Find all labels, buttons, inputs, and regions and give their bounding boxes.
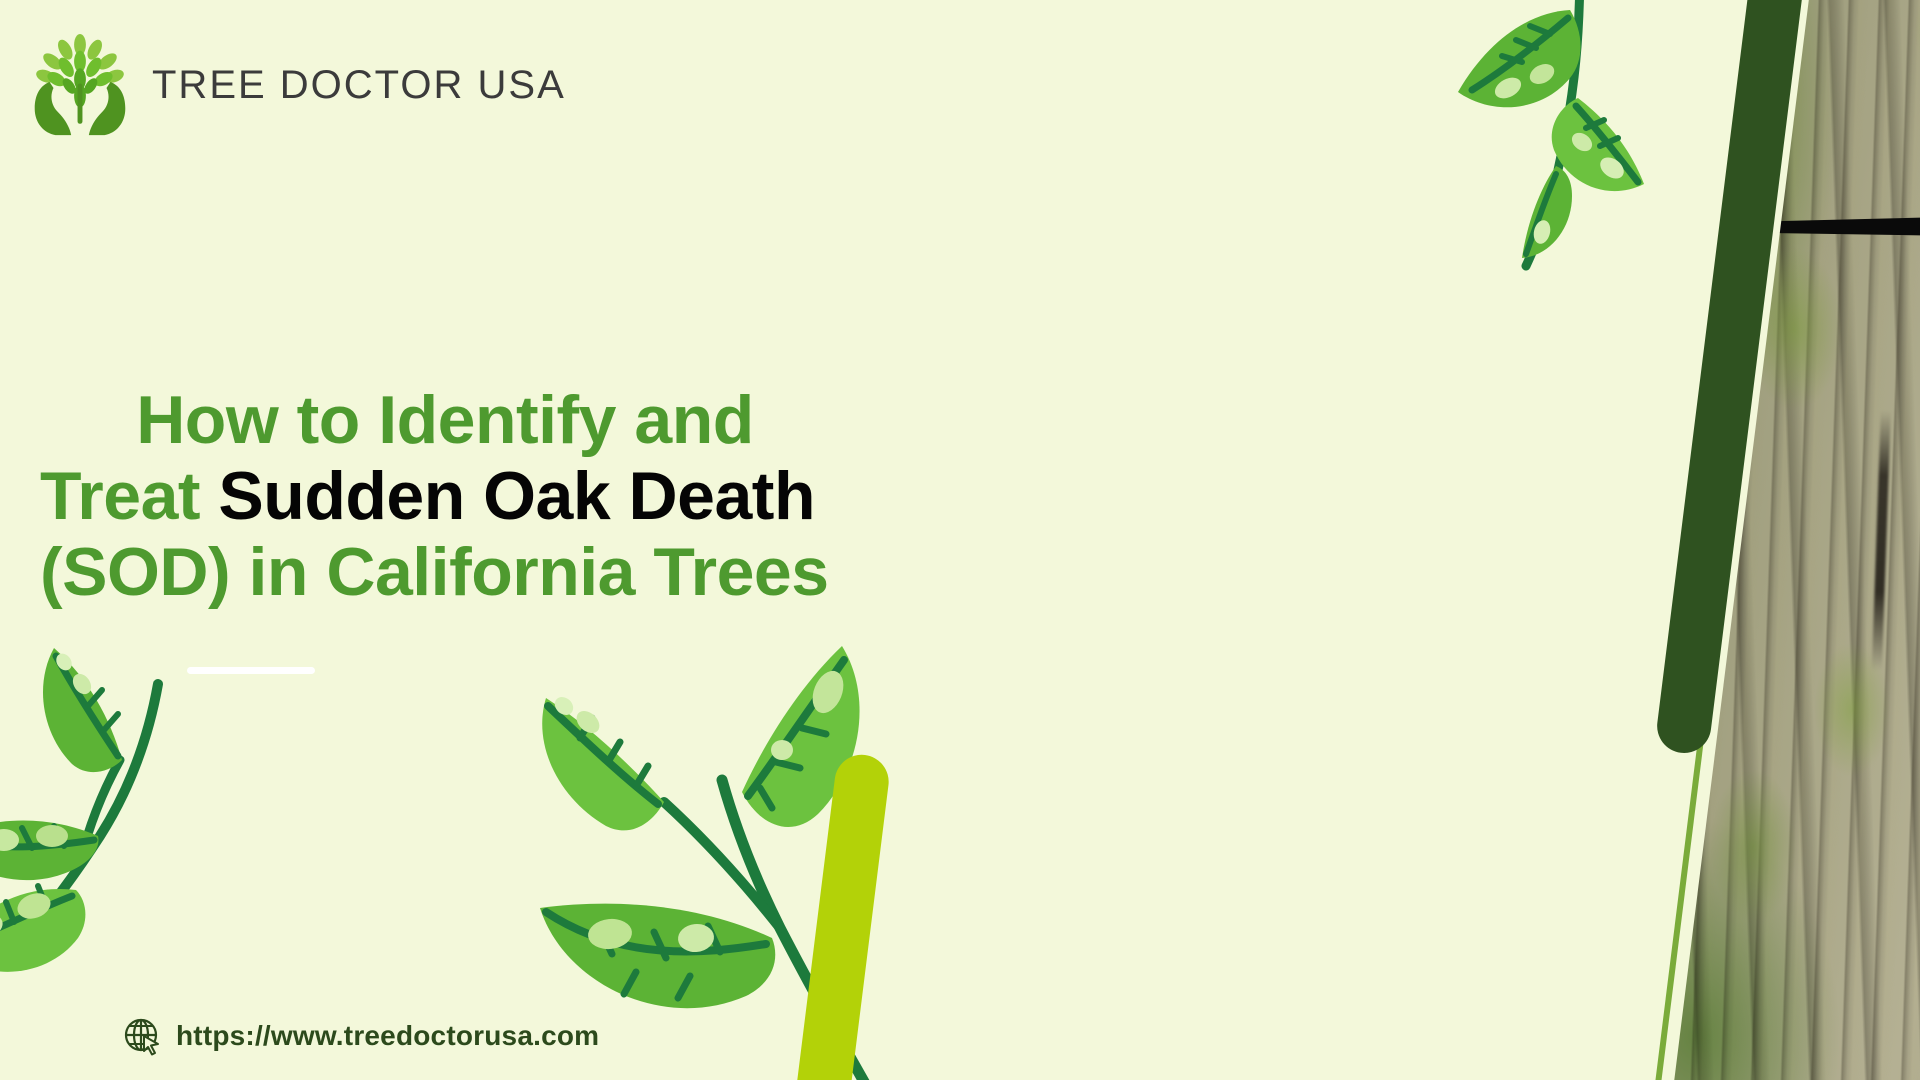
headline-sod-text: Sudden Oak Death (218, 458, 815, 534)
headline-line-1-text: How to Identify and (136, 382, 754, 458)
website-url[interactable]: https://www.treedoctorusa.com (122, 1016, 599, 1056)
title-divider (187, 667, 315, 674)
leaf-sprig-top-right-icon (1430, 0, 1730, 290)
website-url-text: https://www.treedoctorusa.com (176, 1020, 599, 1052)
headline-treat-text: Treat (40, 458, 218, 534)
brand-name: TREE DOCTOR USA (152, 63, 566, 108)
leaf-sprig-left-icon (0, 600, 290, 1020)
poster-canvas: TREE DOCTOR USA How to Identify and Trea… (0, 0, 1920, 1080)
headline-line-3-text: (SOD) in California Trees (40, 534, 829, 610)
globe-with-cursor-icon (122, 1016, 162, 1056)
brand-lockup[interactable]: TREE DOCTOR USA (26, 30, 566, 140)
bleeding-canker-stain (1909, 0, 1920, 1080)
tree-in-hands-logo-icon (26, 30, 134, 140)
